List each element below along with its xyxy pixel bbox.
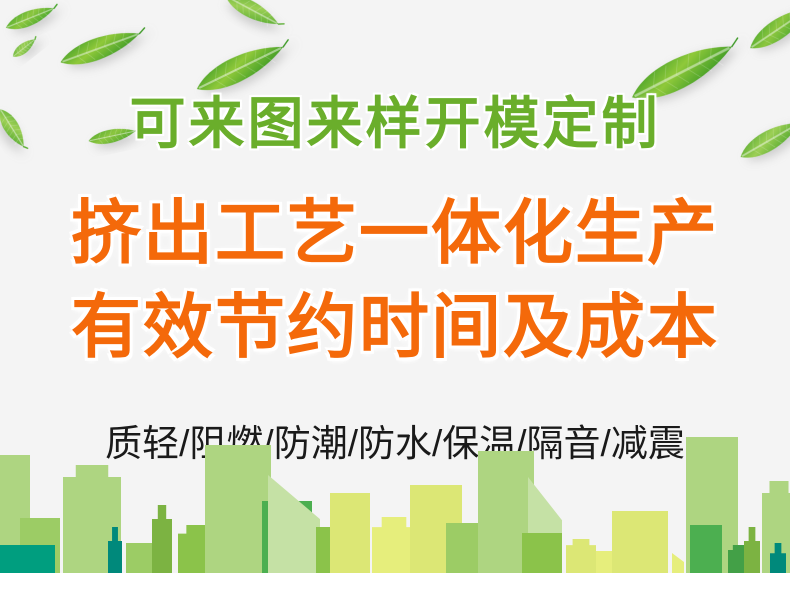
- leaf-stem: [281, 40, 290, 47]
- leaf-stem: [53, 4, 58, 8]
- city-skyline-graphic: [0, 423, 790, 573]
- leaf-stem: [34, 37, 37, 40]
- leaf-vein: [233, 0, 243, 10]
- leaf-upper-left-mid: [57, 21, 150, 72]
- leaf-blade: [3, 1, 57, 34]
- bldg-14: [372, 517, 416, 573]
- leaf-blade: [222, 0, 283, 31]
- leaf-right-top: [745, 0, 790, 56]
- leaf-blade: [57, 24, 143, 73]
- leaf-top-left-small: [3, 0, 61, 35]
- headline-orange-secondary: 有效节约时间及成本: [0, 292, 790, 362]
- leaf-vein: [230, 58, 246, 80]
- leaf-blade: [10, 35, 38, 60]
- bldg-13: [330, 493, 370, 573]
- leaf-vein: [250, 48, 266, 70]
- leaf-midrib: [63, 34, 138, 61]
- leaf-vein: [240, 53, 256, 75]
- leaf-vein: [693, 48, 712, 75]
- bldg-25: [690, 525, 722, 573]
- leaf-vein: [28, 38, 35, 46]
- leaf-center-top: [222, 0, 287, 34]
- leaf-midrib: [227, 0, 277, 23]
- leaf-vein: [785, 11, 790, 28]
- leaf-midrib: [752, 9, 790, 47]
- leaf-vein: [682, 54, 701, 81]
- leaf-vein: [670, 60, 689, 87]
- bldg-22: [612, 511, 668, 573]
- bldg-21: [596, 551, 612, 573]
- leaf-midrib: [14, 40, 35, 56]
- leaf-vein: [19, 14, 27, 27]
- leaf-blade: [745, 0, 790, 56]
- leaf-vein: [264, 12, 274, 27]
- leaf-vein: [659, 66, 678, 93]
- leaf-vein: [30, 10, 38, 23]
- leaf-midrib: [635, 48, 730, 96]
- headline-orange-primary: 挤出工艺一体化生产: [0, 198, 790, 268]
- leaf-vein: [14, 16, 22, 29]
- leaf-blade: [191, 36, 288, 100]
- bldg-07: [152, 505, 172, 573]
- leaf-vein: [18, 46, 25, 54]
- bldg-20: [566, 539, 596, 573]
- leaf-vein: [765, 25, 779, 42]
- bldg-09: [205, 445, 271, 573]
- leaf-center-large: [191, 32, 295, 100]
- leaf-vein: [211, 67, 227, 89]
- leaf-vein: [240, 0, 250, 14]
- leaf-vein: [25, 40, 32, 48]
- leaf-vein: [20, 44, 27, 52]
- leaf-vein: [74, 45, 86, 65]
- leaf-top-left-tiny: [10, 34, 40, 60]
- leaf-vein: [779, 16, 790, 33]
- leaf-vein: [101, 36, 113, 56]
- skyline-svg: [0, 423, 790, 573]
- leaf-stem: [138, 28, 146, 34]
- leaf-vein: [110, 32, 122, 52]
- leaf-vein: [23, 42, 30, 50]
- headline-green: 可来图来样开模定制: [0, 96, 790, 152]
- leaf-stem: [278, 22, 284, 27]
- leaf-vein: [260, 43, 276, 65]
- leaf-midrib: [199, 48, 281, 88]
- leaf-vein: [41, 5, 49, 18]
- leaf-vein: [758, 30, 772, 47]
- bldg-27: [744, 527, 760, 573]
- leaf-vein: [15, 48, 22, 56]
- leaf-midrib: [7, 9, 53, 28]
- leaf-vein: [258, 8, 268, 23]
- leaf-vein: [25, 12, 33, 25]
- leaf-stem: [730, 38, 740, 47]
- leaf-vein: [220, 63, 236, 85]
- leaf-vein: [246, 2, 256, 17]
- bldg-23: [672, 553, 684, 573]
- leaf-vein: [772, 20, 786, 37]
- bldg-11: [268, 475, 320, 573]
- bottom-white-strip: [0, 573, 790, 600]
- leaf-vein: [92, 39, 104, 59]
- leaf-vein: [705, 42, 724, 69]
- bldg-19: [522, 533, 562, 573]
- leaf-vein: [119, 29, 131, 49]
- leaf-vein: [36, 7, 44, 20]
- promo-banner: 可来图来样开模定制 挤出工艺一体化生产 有效节约时间及成本 质轻/阻燃/防潮/防…: [0, 0, 790, 600]
- leaf-vein: [252, 5, 262, 20]
- bldg-03: [0, 545, 55, 573]
- leaf-vein: [83, 42, 95, 62]
